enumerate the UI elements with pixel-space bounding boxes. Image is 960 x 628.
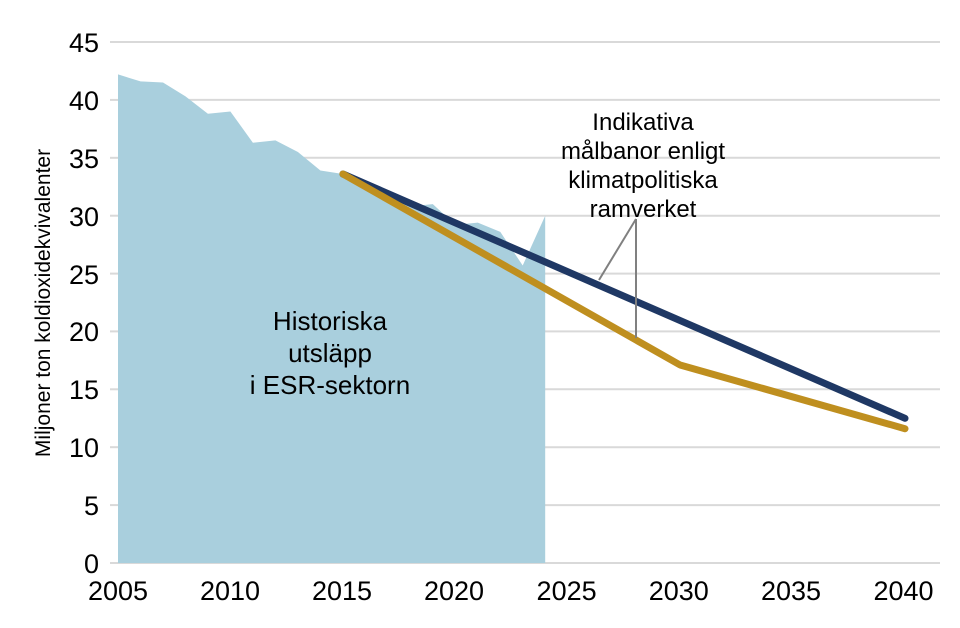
x-tick-label-2005: 2005 [88, 576, 148, 606]
target-paths-label-line3: klimatpolitiska [568, 167, 718, 194]
y-tick-label-45: 45 [69, 28, 99, 58]
historical-emissions-label-line1: Historiska [273, 306, 388, 336]
y-tick-label-20: 20 [69, 317, 99, 347]
leader-line-navy [599, 219, 636, 280]
x-tick-label-2040: 2040 [873, 576, 933, 606]
x-tick-label-2020: 2020 [424, 576, 484, 606]
y-tick-label-10: 10 [69, 433, 99, 463]
y-tick-label-40: 40 [69, 86, 99, 116]
x-tick-labels: 2005 2010 2015 2020 2025 2030 2035 2040 [88, 576, 934, 606]
historical-emissions-label-line2: utsläpp [288, 338, 372, 368]
y-tick-label-25: 25 [69, 260, 99, 290]
x-tick-label-2010: 2010 [200, 576, 260, 606]
x-tick-label-2030: 2030 [649, 576, 709, 606]
y-tick-label-5: 5 [84, 491, 99, 521]
x-tick-label-2025: 2025 [537, 576, 597, 606]
y-tick-labels: 45 40 35 30 25 20 15 10 5 0 [69, 28, 99, 579]
y-tick-label-35: 35 [69, 144, 99, 174]
target-paths-label: Indikativa målbanor enligt klimatpolitis… [561, 109, 725, 223]
y-tick-label-15: 15 [69, 375, 99, 405]
target-paths-label-line1: Indikativa [592, 109, 694, 136]
y-tick-label-30: 30 [69, 202, 99, 232]
chart-container: Miljoner ton koldioxidekvivalenter 45 40… [0, 0, 960, 628]
historical-emissions-label-line3: i ESR-sektorn [250, 370, 410, 400]
x-tick-label-2015: 2015 [312, 576, 372, 606]
target-paths-label-line2: målbanor enligt [561, 138, 725, 165]
x-tick-label-2035: 2035 [761, 576, 821, 606]
y-tick-label-0: 0 [84, 549, 99, 579]
y-axis-title: Miljoner ton koldioxidekvivalenter [32, 149, 55, 457]
y-tick-marks [110, 42, 118, 563]
emissions-area-chart: Miljoner ton koldioxidekvivalenter 45 40… [0, 0, 960, 628]
target-paths-label-line4: ramverket [590, 196, 697, 223]
